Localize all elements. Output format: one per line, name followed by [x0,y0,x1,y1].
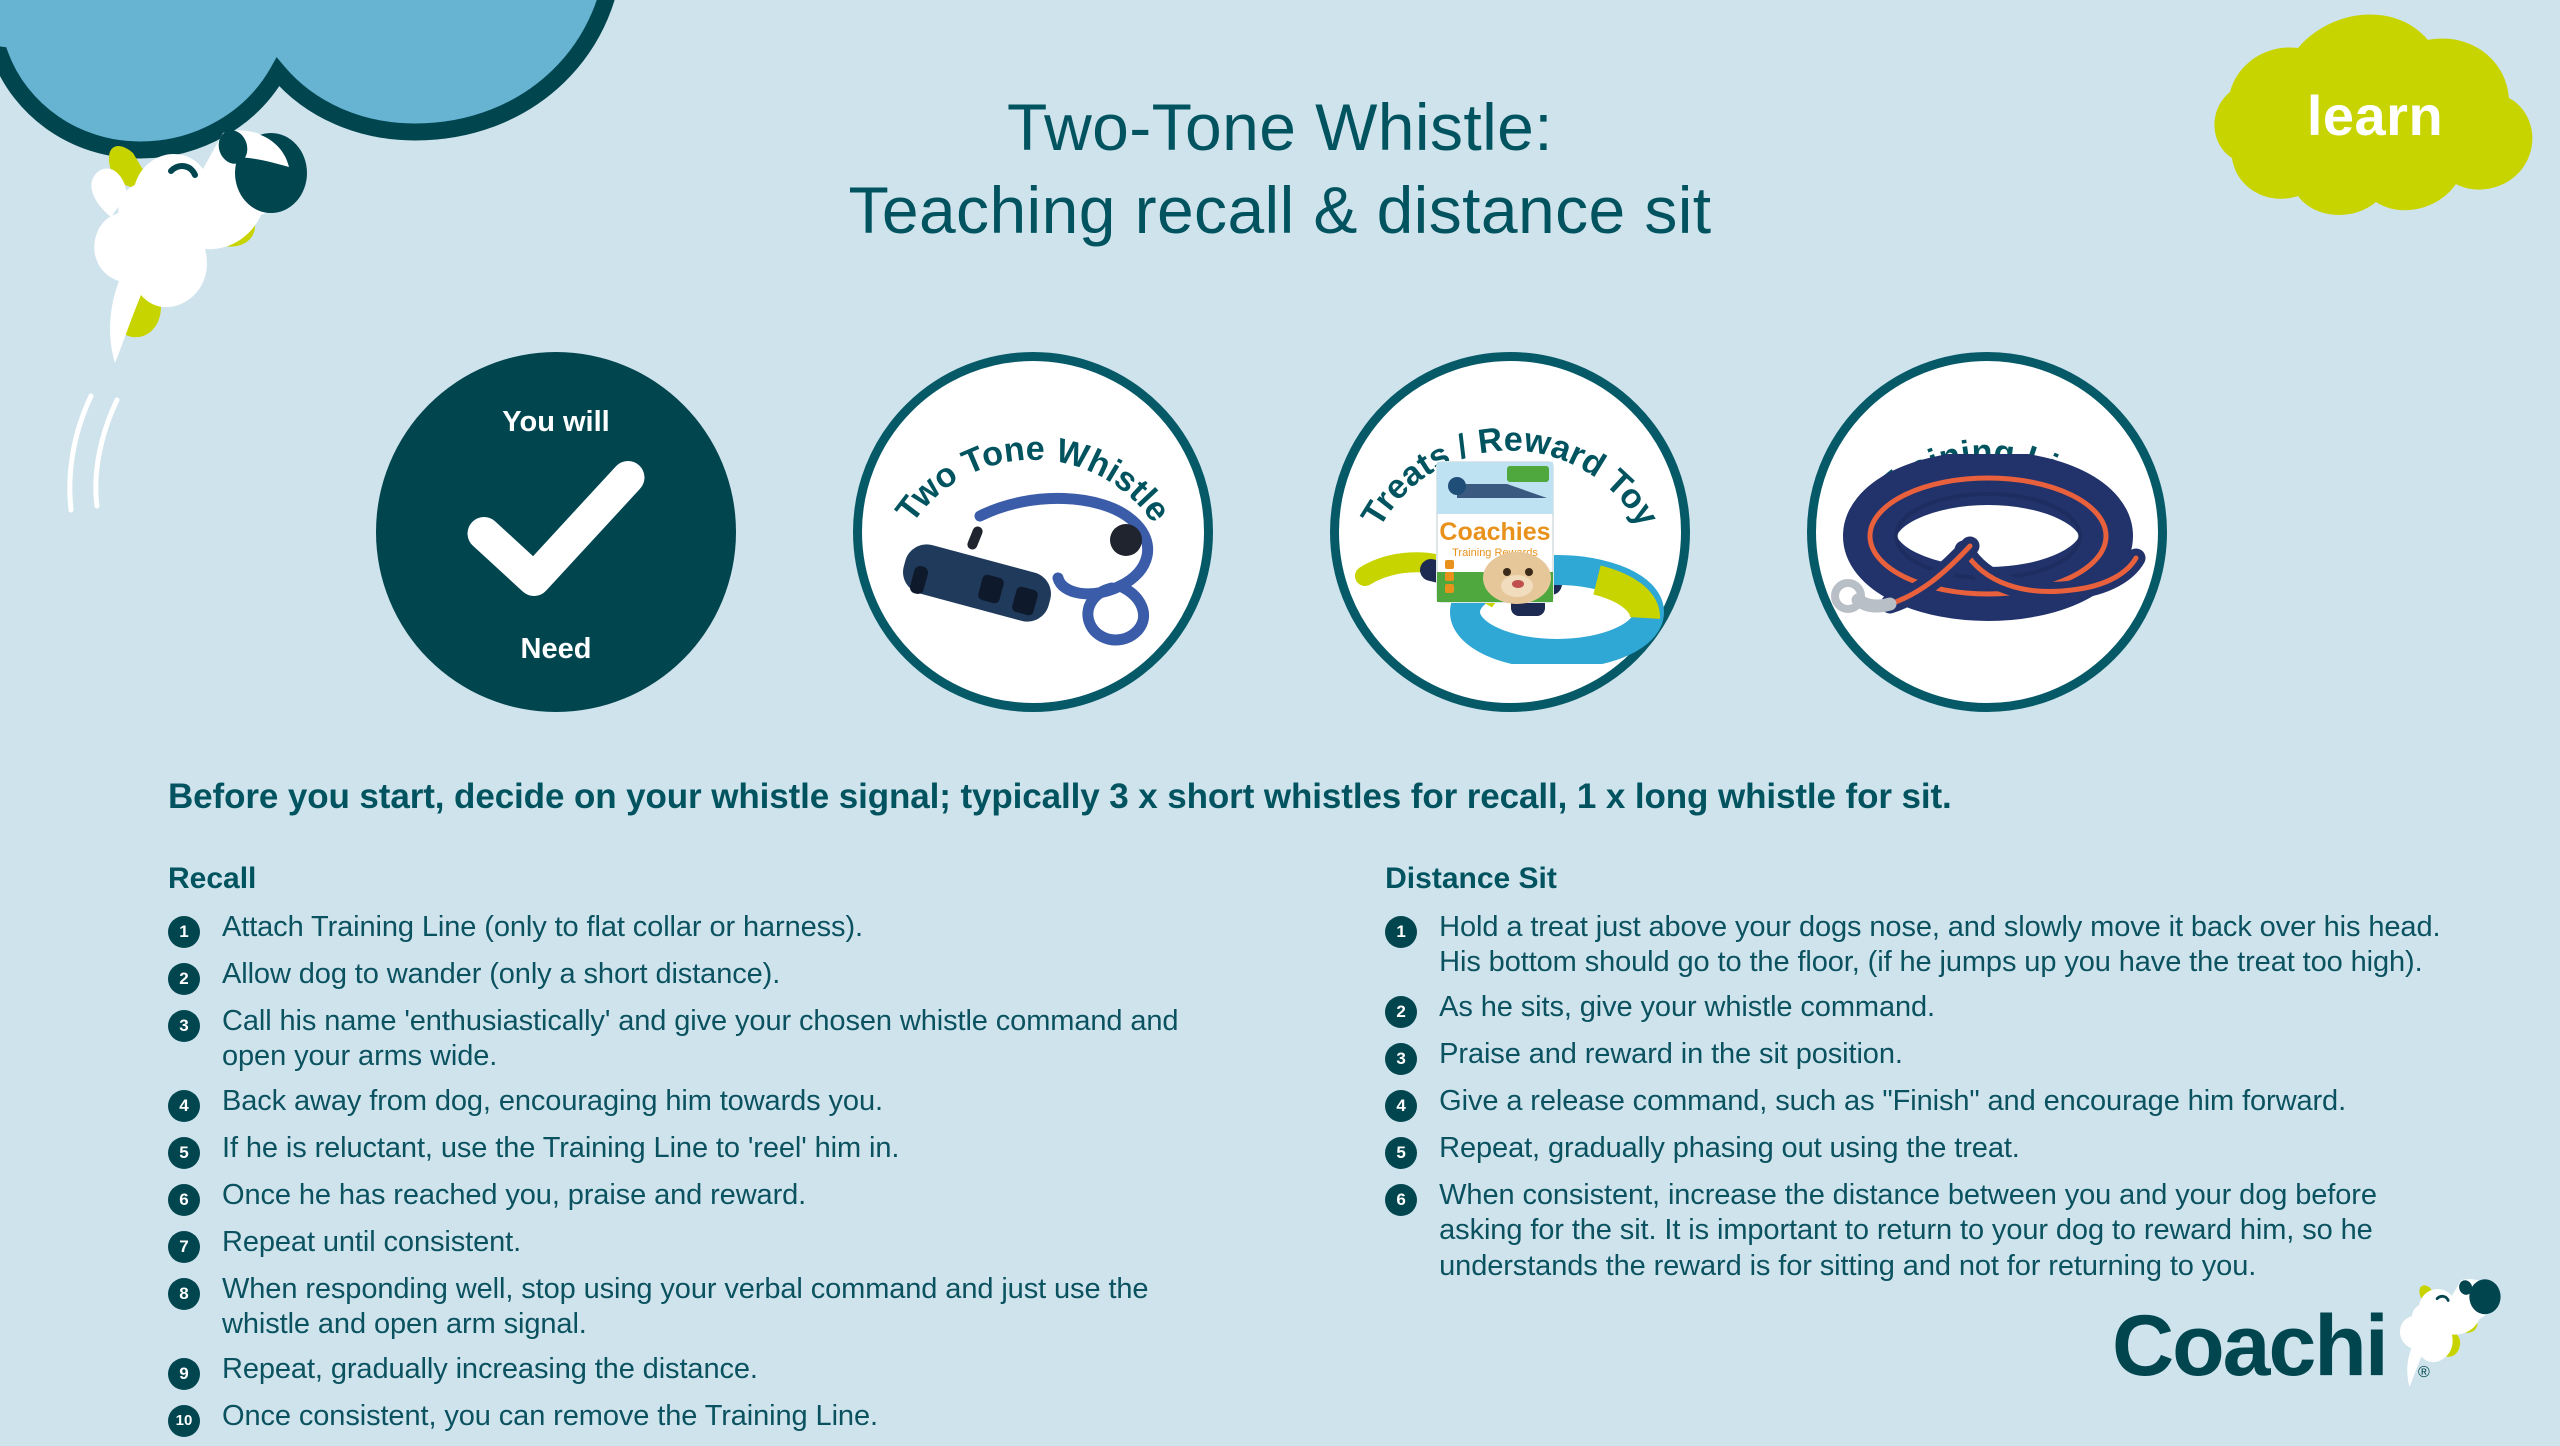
step-number: 7 [168,1231,200,1263]
step-text: Praise and reward in the sit position. [1439,1037,1903,1072]
svg-text:Coachies: Coachies [1439,518,1550,546]
step-number: 1 [168,916,200,948]
list-item: 3Praise and reward in the sit position. [1385,1037,2464,1075]
list-item: 5If he is reluctant, use the Training Li… [168,1131,1237,1169]
step-text: Once consistent, you can remove the Trai… [222,1399,878,1434]
treats-and-toy-icon: Coachies Training Rewards [1339,454,1681,669]
kit-item-training-line: Training Line [1807,352,2167,712]
distance-sit-step-list: 1Hold a treat just above your dogs nose,… [1385,910,2464,1284]
list-item: 4Back away from dog, encouraging him tow… [168,1084,1237,1122]
list-item: 8When responding well, stop using your v… [168,1272,1237,1343]
step-text: Back away from dog, encouraging him towa… [222,1084,883,1119]
step-text: If he is reluctant, use the Training Lin… [222,1131,899,1166]
coachi-logo: Coachi ® [2112,1265,2512,1415]
step-number: 1 [1385,916,1417,948]
column-recall-heading: Recall [168,862,1237,896]
infographic-root: learn Two-Tone Whistle: Teaching recall … [0,0,2560,1443]
list-item: 7Repeat until consistent. [168,1225,1237,1263]
step-number: 2 [168,963,200,995]
jumping-dog-icon [2400,1279,2501,1387]
step-text: Call his name 'enthusiastically' and giv… [222,1004,1237,1075]
list-item: 5Repeat, gradually phasing out using the… [1385,1131,2464,1169]
step-number: 10 [168,1405,200,1437]
kit-badge-row: You will Need Two Tone Whistle [0,352,2560,712]
step-number: 9 [168,1358,200,1390]
step-number: 5 [168,1137,200,1169]
column-distance-sit-heading: Distance Sit [1385,862,2464,896]
step-number: 6 [1385,1184,1417,1216]
step-number: 4 [1385,1090,1417,1122]
list-item: 3Call his name 'enthusiastically' and gi… [168,1004,1237,1075]
step-number: 2 [1385,996,1417,1028]
step-number: 8 [168,1278,200,1310]
coachi-trademark: ® [2418,1364,2430,1381]
list-item: 2As he sits, give your whistle command. [1385,990,2464,1028]
list-item: 1Hold a treat just above your dogs nose,… [1385,910,2464,981]
step-number: 6 [168,1184,200,1216]
column-recall: Recall 1Attach Training Line (only to fl… [168,862,1237,1446]
list-item: 4Give a release command, such as "Finish… [1385,1084,2464,1122]
step-text: Repeat, gradually phasing out using the … [1439,1131,2020,1166]
list-item: 2Allow dog to wander (only a short dista… [168,957,1237,995]
intro-text: Before you start, decide on your whistle… [168,777,2440,817]
step-text: Repeat until consistent. [222,1225,521,1260]
you-will-need-bottom-label: Need [376,633,736,666]
step-text: Hold a treat just above your dogs nose, … [1439,910,2464,981]
recall-step-list: 1Attach Training Line (only to flat coll… [168,910,1237,1437]
list-item: 9Repeat, gradually increasing the distan… [168,1352,1237,1390]
step-number: 4 [168,1090,200,1122]
title-line-2: Teaching recall & distance sit [0,175,2560,246]
step-text: Repeat, gradually increasing the distanc… [222,1352,758,1387]
list-item: 10Once consistent, you can remove the Tr… [168,1399,1237,1437]
svg-text:Coachi: Coachi [2112,1298,2387,1394]
step-number: 3 [168,1010,200,1042]
list-item: 6Once he has reached you, praise and rew… [168,1178,1237,1216]
step-text: As he sits, give your whistle command. [1439,990,1935,1025]
whistle-icon [862,454,1204,669]
you-will-need-top-label: You will [376,406,736,439]
kit-item-treats: Treats / Reward Toy [1330,352,1690,712]
kit-item-whistle: Two Tone Whistle [853,352,1213,712]
you-will-need-badge: You will Need [376,352,736,712]
training-line-icon [1816,454,2158,669]
title-line-1: Two-Tone Whistle: [1007,90,1553,164]
step-text: Allow dog to wander (only a short distan… [222,957,780,992]
checkmark-icon [466,460,646,605]
list-item: 1Attach Training Line (only to flat coll… [168,910,1237,948]
step-text: Give a release command, such as "Finish"… [1439,1084,2346,1119]
coachi-wordmark: Coachi [2112,1298,2387,1394]
step-text: When responding well, stop using your ve… [222,1272,1237,1343]
step-text: Attach Training Line (only to flat colla… [222,910,863,945]
step-text: Once he has reached you, praise and rewa… [222,1178,806,1213]
step-number: 5 [1385,1137,1417,1169]
step-number: 3 [1385,1043,1417,1075]
page-title: Two-Tone Whistle: Teaching recall & dist… [0,92,2560,247]
